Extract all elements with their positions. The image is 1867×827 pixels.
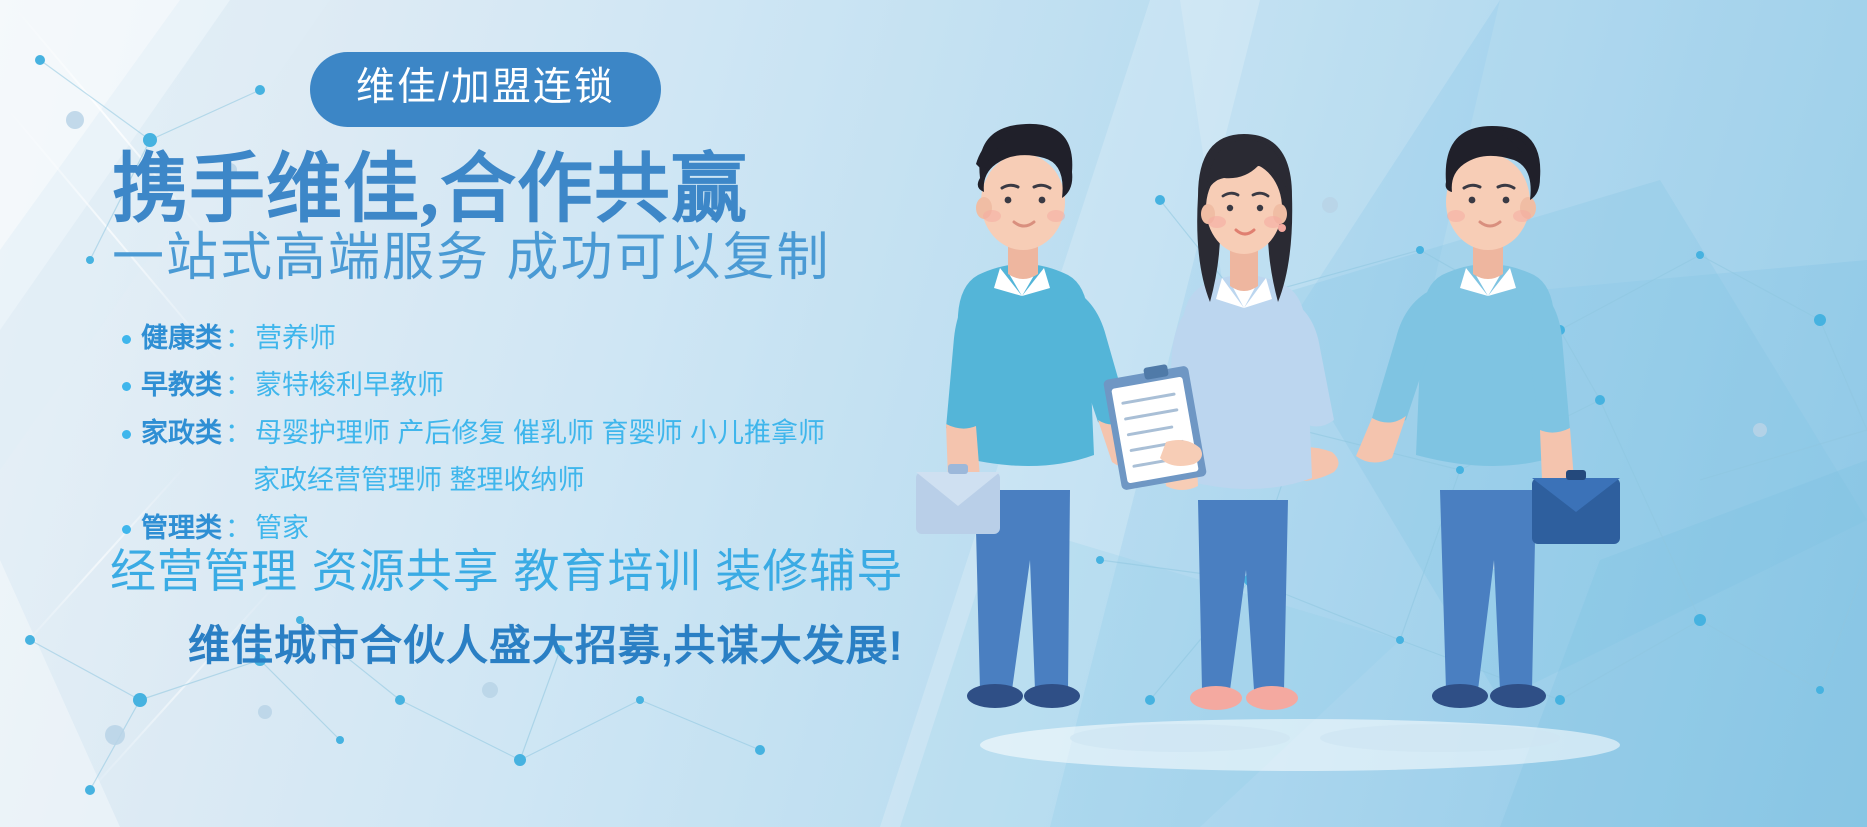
list-item: 早教类 ： 蒙特梭利早教师 [122,367,942,403]
bullet-dot-icon [122,335,131,344]
category-items: 母婴护理师 产后修复 催乳师 育婴师 小儿推拿师 [255,415,825,451]
category-colon: ： [222,510,255,546]
category-colon: ： [222,320,255,356]
figure-man-right [1356,126,1620,708]
category-items-line2: 家政经营管理师 整理收纳师 [253,462,585,498]
list-item: 管理类 ： 管家 [122,510,942,546]
list-item: 健康类 ： 营养师 [122,320,942,356]
category-items: 蒙特梭利早教师 [255,367,444,403]
promo-banner: 维佳/加盟连锁 携手维佳,合作共赢 一站式高端服务 成功可以复制 健康类 ： 营… [0,0,1867,827]
category-items: 营养师 [255,320,336,356]
indent-spacer [122,462,253,498]
brand-badge[interactable]: 维佳/加盟连锁 [310,52,661,127]
list-item-continuation: 家政经营管理师 整理收纳师 [122,462,942,498]
bullet-dot-icon [122,525,131,534]
page-title: 携手维佳,合作共赢 [112,152,748,228]
category-items: 管家 [255,510,309,546]
call-to-action-text: 维佳城市合伙人盛大招募,共谋大发展! [188,625,904,667]
figure-woman-center [1103,134,1334,710]
category-name: 早教类 [141,367,222,403]
category-colon: ： [222,415,255,451]
three-business-people-handshake-illustration [880,90,1700,790]
bullet-dot-icon [122,430,131,439]
banner-content: 维佳/加盟连锁 携手维佳,合作共赢 一站式高端服务 成功可以复制 健康类 ： 营… [0,0,960,827]
category-name: 管理类 [141,510,222,546]
bullet-dot-icon [122,382,131,391]
subtitle: 一站式高端服务 成功可以复制 [112,232,830,284]
services-line: 经营管理 资源共享 教育培训 装修辅导 [110,548,903,594]
category-name: 健康类 [141,320,222,356]
category-list: 健康类 ： 营养师 早教类 ： 蒙特梭利早教师 家政类 ： 母婴护理师 产后修复… [122,320,942,557]
category-colon: ： [222,367,255,403]
category-name: 家政类 [141,415,222,451]
list-item: 家政类 ： 母婴护理师 产后修复 催乳师 育婴师 小儿推拿师 [122,415,942,451]
